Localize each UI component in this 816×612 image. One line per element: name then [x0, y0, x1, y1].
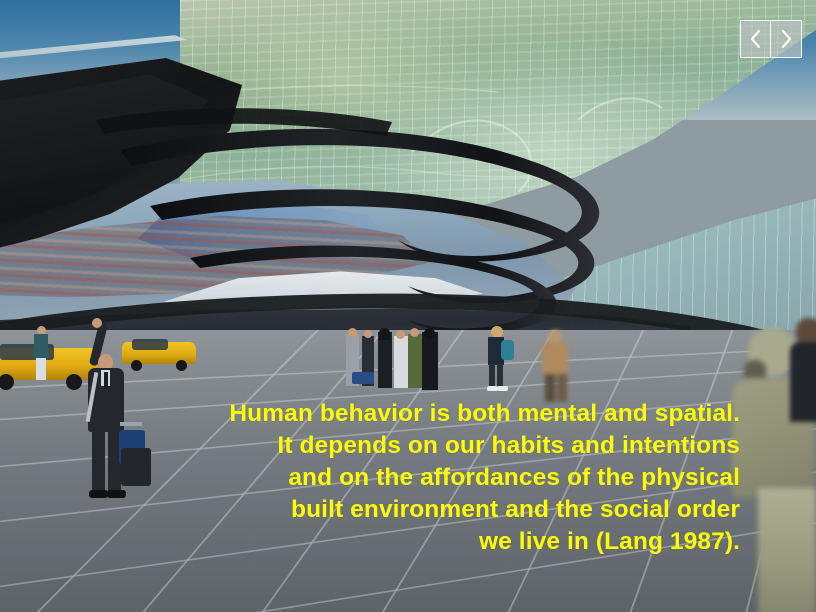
foreground-pedestrian-dark-partial [790, 318, 816, 438]
person-by-taxi [32, 326, 50, 382]
pedestrian-group-center [344, 328, 454, 390]
chevron-right-icon [780, 29, 793, 49]
chevron-left-icon [749, 29, 762, 49]
presentation-slide: Human behavior is both mental and spatia… [0, 0, 816, 612]
pedestrian-with-backpack [482, 326, 514, 392]
next-slide-button[interactable] [771, 20, 802, 58]
blurred-pedestrian-midright [536, 330, 576, 404]
slide-navigation [740, 20, 802, 58]
previous-slide-button[interactable] [740, 20, 771, 58]
slide-caption: Human behavior is both mental and spatia… [120, 398, 740, 558]
